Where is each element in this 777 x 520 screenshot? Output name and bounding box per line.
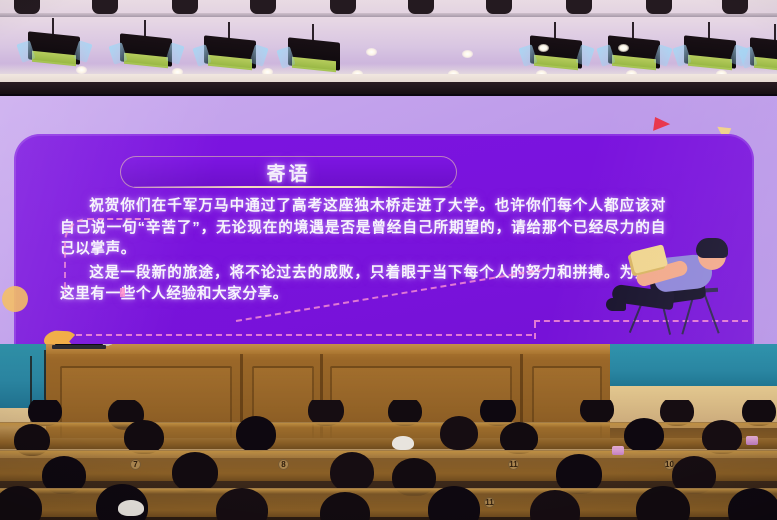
orange-circle-decoration (2, 286, 28, 312)
seat-number: 8 (278, 459, 289, 470)
ceiling-mount (486, 0, 512, 14)
stage-light-fixture (288, 40, 340, 70)
phone-screen (746, 436, 758, 445)
ceiling-mount (408, 0, 434, 14)
dashed-bubble-stem (534, 322, 536, 344)
ceiling-mount (330, 0, 356, 14)
recessed-downlight (618, 44, 629, 52)
ceiling-mount (14, 0, 40, 14)
dashed-bubble-corner (64, 218, 102, 294)
audience-head (580, 400, 614, 424)
audience-white-cap (392, 436, 414, 450)
slide-content-card: 寄语 祝贺你们在千军万马中通过了高考这座独木桥走进了大学。也许你们每个人都应该对… (14, 134, 754, 344)
person-shoe (606, 298, 626, 311)
presentation-slide: 寄语 祝贺你们在千军万马中通过了高考这座独木桥走进了大学。也许你们每个人都应该对… (0, 96, 777, 344)
seat-number: 11 (508, 459, 519, 470)
audience-head (624, 418, 664, 452)
ceiling-mount (646, 0, 672, 14)
audience-head (172, 452, 218, 492)
phone-screen (612, 446, 624, 455)
right-teal-wall (599, 344, 777, 388)
page-title: 寄语 (266, 159, 310, 186)
audience-head (440, 416, 478, 450)
stage-light-fixture (120, 36, 172, 66)
red-triangle-decoration (653, 117, 671, 133)
dashed-bubble-top (98, 218, 150, 220)
title-underline (134, 186, 452, 188)
stage-light-fixture (750, 40, 777, 70)
laptop-base (52, 345, 106, 349)
desk-top-surface (46, 344, 610, 354)
seat-number: 7 (130, 459, 141, 470)
slide-body-text: 祝贺你们在千军万马中通过了高考这座独木桥走进了大学。也许你们每个人都应该对自己说… (60, 196, 666, 308)
stage-light-fixture (530, 38, 582, 68)
audience-head (702, 420, 742, 454)
audience-seating: 10 7 8 11 10 6 9 11 (0, 400, 777, 520)
audience-head (330, 452, 374, 492)
recessed-downlight (366, 48, 377, 56)
recessed-downlight (462, 50, 473, 58)
light-lens (754, 57, 777, 73)
stage-light-fixture (608, 38, 660, 68)
ceiling-mount (250, 0, 276, 14)
ceiling (0, 0, 777, 96)
led-screen: 寄语 祝贺你们在千军万马中通过了高考这座独木桥走进了大学。也许你们每个人都应该对… (0, 94, 777, 346)
ceiling-mount (92, 0, 118, 14)
ceiling-mount (172, 0, 198, 14)
ceiling-bottom-edge (0, 74, 777, 82)
slide-title-banner: 寄语 (120, 156, 457, 188)
lecture-hall-screenshot: 寄语 祝贺你们在千军万马中通过了高考这座独木桥走进了大学。也许你们每个人都应该对… (0, 0, 777, 520)
dashed-bubble-baseline (66, 334, 532, 336)
recessed-downlight (538, 44, 549, 52)
slide-paragraph-1: 祝贺你们在千军万马中通过了高考这座独木桥走进了大学。也许你们每个人都应该对自己说… (60, 196, 666, 261)
ceiling-mount (566, 0, 592, 14)
stage-light-fixture (28, 34, 80, 64)
seat-number: 11 (484, 497, 495, 508)
stage-light-fixture (204, 38, 256, 68)
seat-row: 7 8 11 10 (0, 450, 777, 481)
person-reading-illustration (606, 232, 746, 344)
audience-head (236, 416, 276, 452)
recessed-downlight (76, 66, 87, 74)
audience-head (124, 420, 164, 454)
person-hair (696, 238, 728, 258)
dashed-bubble-tick (120, 288, 125, 297)
stage-light-fixture (684, 38, 736, 68)
audience-white-cap (118, 500, 144, 516)
ceiling-mount (722, 0, 748, 14)
